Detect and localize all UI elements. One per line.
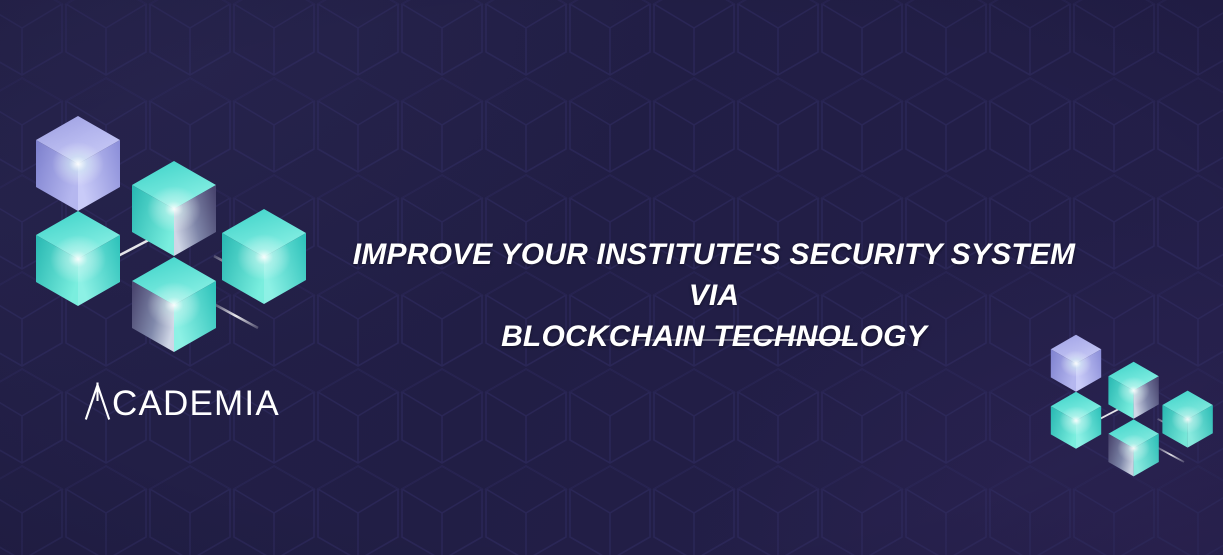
blockchain-cube-cluster-left [28, 108, 328, 358]
cube-teal-3 [1051, 392, 1101, 449]
academia-logo-text: CADEMIA [112, 386, 280, 421]
cube-teal-5 [132, 257, 216, 352]
cube-teal-4 [1162, 391, 1212, 448]
academia-spire-a-icon [84, 381, 111, 421]
cube-purple-1 [36, 116, 120, 211]
headline-underline-rule [573, 339, 853, 341]
banner-root: IMPROVE YOUR INSTITUTE'S SECURITY SYSTEM… [0, 0, 1223, 555]
cube-teal-4 [222, 209, 306, 304]
academia-logo: CADEMIA [84, 378, 280, 424]
cube-teal-3 [36, 211, 120, 306]
cube-teal-5 [1108, 419, 1158, 476]
